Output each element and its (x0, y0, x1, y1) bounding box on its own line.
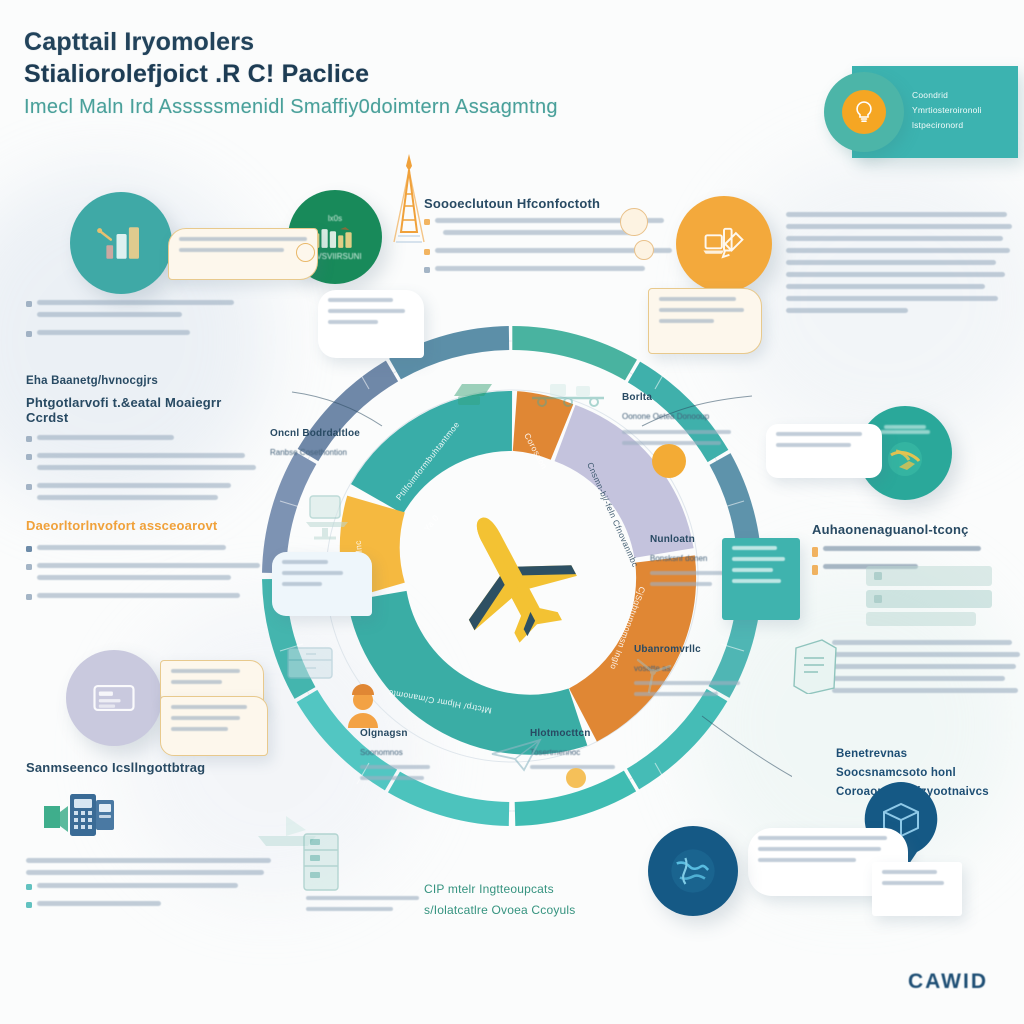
ring-label-bl-sub: Soonomnos (360, 746, 470, 760)
invoice-card-circle (66, 650, 162, 746)
printer-icon (448, 368, 508, 421)
page-title-line1: Capttail Iryomolers (24, 28, 254, 57)
globe-world-icon (667, 845, 719, 897)
right-b-heading-2: Soocsnamcsoto honl (836, 767, 1024, 779)
ring-label-br-heading: Hlotmocttcn (530, 728, 648, 739)
document-stack-icon (790, 636, 840, 699)
ring-label-left-heading: Oncnl Bodrdaltloe (270, 428, 410, 439)
left-block-a (26, 300, 238, 348)
left-c-bullet-3 (26, 593, 262, 605)
conveyor-icon (528, 372, 610, 413)
badge-line-1: Coondrid (912, 88, 1012, 103)
ring-label-left-sub: Ranbse Cosethontion (270, 446, 410, 460)
left-block-b: Eha Baanetg/hvnocgjrs Phtgotlarvofi t.&e… (26, 375, 258, 513)
top-bullet-3 (424, 266, 674, 278)
square-orange-bullet-icon (424, 249, 430, 255)
brand-logo: CAWID (908, 970, 988, 994)
ring-label-upper-right: Borlta Oonone Oetea Donooup (622, 392, 740, 452)
inner-seg-2 (515, 421, 562, 432)
bottom-server-caption (306, 896, 434, 918)
server-stack-icon (296, 828, 348, 903)
laptop-pen-circle (676, 196, 772, 292)
left-b-heading: Phtgotlarvofi t.&eatal Moaiegrr Ccrdst (26, 395, 258, 425)
left-c-bullet-2 (26, 563, 262, 587)
page-subtitle: Imecl Maln Ird Asssssmenidl Smaffiy0doim… (24, 96, 558, 119)
worker-avatar-icon (340, 684, 386, 737)
donut-callout-right[interactable] (722, 538, 800, 620)
bottom-caption-line1: CIP mtelr Ingtteoupcats (424, 882, 654, 896)
badge-line-2: Ymrtiosteroironoli (912, 103, 1012, 118)
coin-icon-bottom (566, 768, 586, 788)
bullet-icon (26, 564, 32, 570)
left-d-body (26, 858, 276, 919)
globe-teal-icon (881, 435, 929, 483)
laptop-small-icon (300, 490, 354, 547)
left-b-bullet-3 (26, 483, 258, 507)
left-b-bullet-1 (26, 435, 258, 447)
bottom-caption-line2: s/Iolatcatlre Ovoea Ccoyuls (424, 903, 654, 917)
globe-circle-label (880, 424, 930, 435)
coin-icon-donut (652, 444, 686, 478)
top-coin-icon-a (620, 208, 648, 236)
cabinet-icon (282, 640, 342, 691)
top-callout-coin-icon (296, 243, 315, 262)
donut-callout-left[interactable] (272, 552, 372, 616)
bullet-icon (26, 902, 32, 908)
server-rack-icon (862, 560, 1002, 639)
bullet-icon (26, 301, 32, 307)
left-d-bullet-1 (26, 883, 276, 895)
badge-text: Coondrid Ymrtiosteroironoli lstpecironor… (912, 88, 1012, 133)
lightbulb-icon (842, 90, 886, 134)
ring-label-left: Oncnl Bodrdaltloe Ranbse Cosethontion (270, 428, 410, 460)
left-d-bullet-2 (26, 901, 276, 913)
donut-callout-topright[interactable] (648, 288, 762, 354)
donut-callout-top[interactable] (318, 290, 424, 358)
bullet-icon (812, 565, 818, 575)
left-c-heading: Daeorltorlnvofort assceoarovt (26, 518, 262, 533)
ring-label-ur-heading: Borlta (622, 392, 740, 403)
ring-label-ur-sub: Oonone Oetea Donooup (622, 410, 740, 424)
bullet-icon (26, 331, 32, 337)
bullet-icon (26, 546, 32, 552)
left-b-eyebrow: Eha Baanetg/hvnocgjrs (26, 375, 258, 387)
infographic-canvas: Capttail Iryomolers Stialiorolefjoict .R… (0, 0, 1024, 1024)
calculator-monitor-icon (38, 790, 124, 851)
square-grey-bullet-icon (424, 267, 430, 273)
paper-plane-icon (490, 738, 542, 777)
windmill-icon (630, 650, 676, 701)
left-c-bullet-1 (26, 545, 262, 557)
bullet-icon (26, 484, 32, 490)
left-b-bullet-2 (26, 453, 258, 477)
right-paragraph (786, 212, 1012, 320)
bullet-icon (26, 454, 32, 460)
right-a-bullet-1 (812, 546, 1020, 558)
page-title-line2: Stialiorolefjoict .R C! Paclice (24, 60, 369, 89)
right-b-heading-1: Benetrevnas (836, 748, 1024, 760)
left-a-bullet-1 (26, 300, 238, 324)
star-bullet-icon (424, 219, 430, 225)
bullet-icon (26, 884, 32, 890)
right-a-heading: Auhaonenaguanol-tconç (812, 522, 1020, 537)
bullet-icon (812, 547, 818, 557)
bullet-icon (26, 594, 32, 600)
aircraft-icon (432, 498, 592, 648)
pin-note[interactable] (872, 862, 962, 916)
left-block-c: Daeorltorlnvofort assceoarovt (26, 518, 262, 611)
badge-line-3: lstpecironord (912, 118, 1012, 133)
chart-flask-circle (70, 192, 172, 294)
bullet-icon (26, 436, 32, 442)
globe-world-circle (648, 826, 738, 916)
ring-label-bottom-right: Hlotmocttcn Tosertmennoc (530, 728, 648, 776)
top-coin-icon-b (634, 240, 654, 260)
left-a-bullet-2 (26, 330, 238, 342)
bottom-caption: CIP mtelr Ingtteoupcats s/Iolatcatlre Ov… (424, 882, 654, 924)
green-circle-caption-top: lx0s (328, 214, 342, 223)
ring-label-br-sub: Tosertmennoc (530, 746, 648, 760)
right-paragraph-2 (832, 640, 1020, 700)
